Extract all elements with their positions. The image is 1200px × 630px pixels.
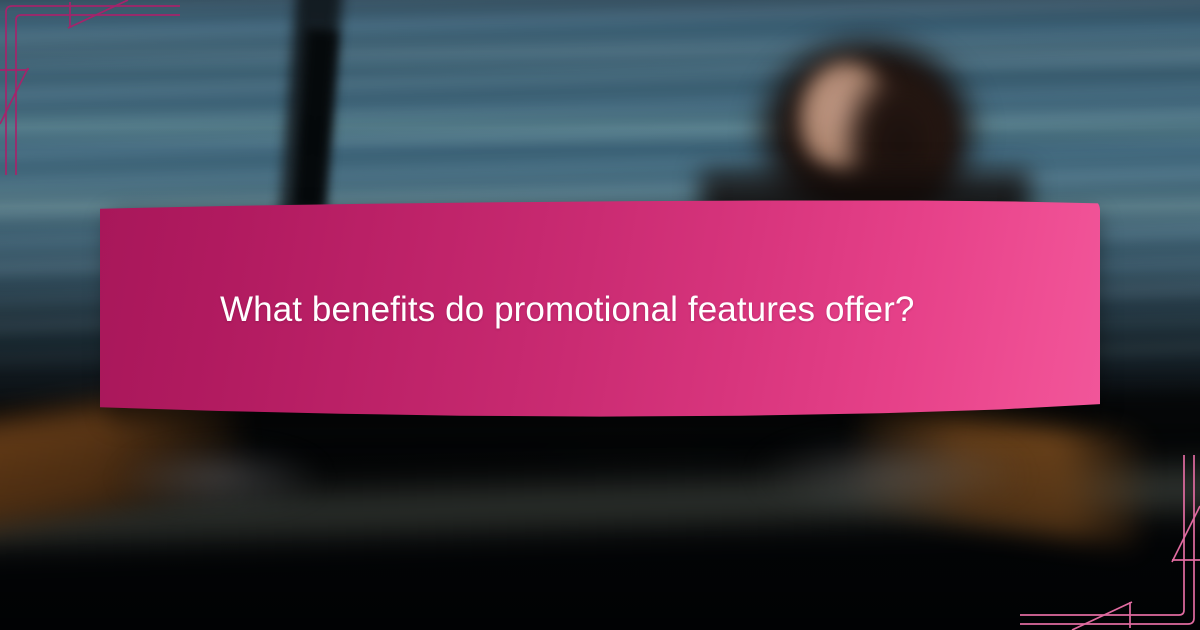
banner-headline: What benefits do promotional features of… xyxy=(220,198,1020,422)
headline-banner: What benefits do promotional features of… xyxy=(100,198,1100,430)
promo-banner-card: What benefits do promotional features of… xyxy=(0,0,1200,630)
